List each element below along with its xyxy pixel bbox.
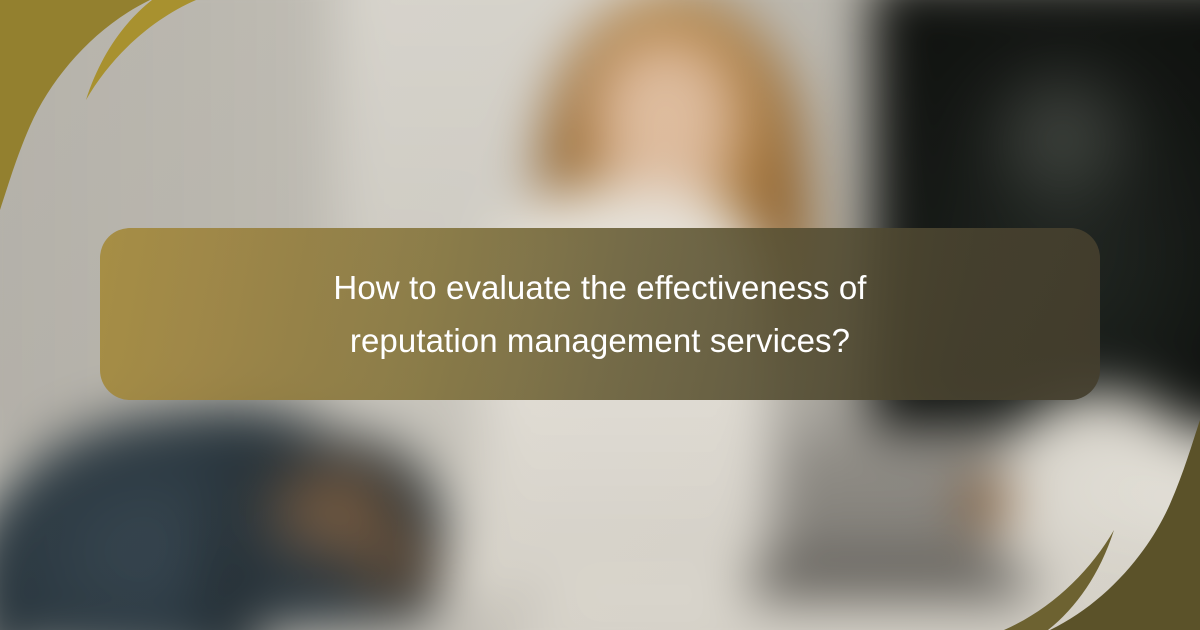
social-share-card: How to evaluate the effectiveness of rep… <box>0 0 1200 630</box>
background-monitor-glow <box>970 45 1155 225</box>
background-person-hand <box>336 510 455 615</box>
background-laptop-base <box>750 566 1031 600</box>
background-coffee-cup <box>963 480 1009 525</box>
question-title: How to evaluate the effectiveness of rep… <box>280 261 920 368</box>
question-banner: How to evaluate the effectiveness of rep… <box>100 228 1100 400</box>
